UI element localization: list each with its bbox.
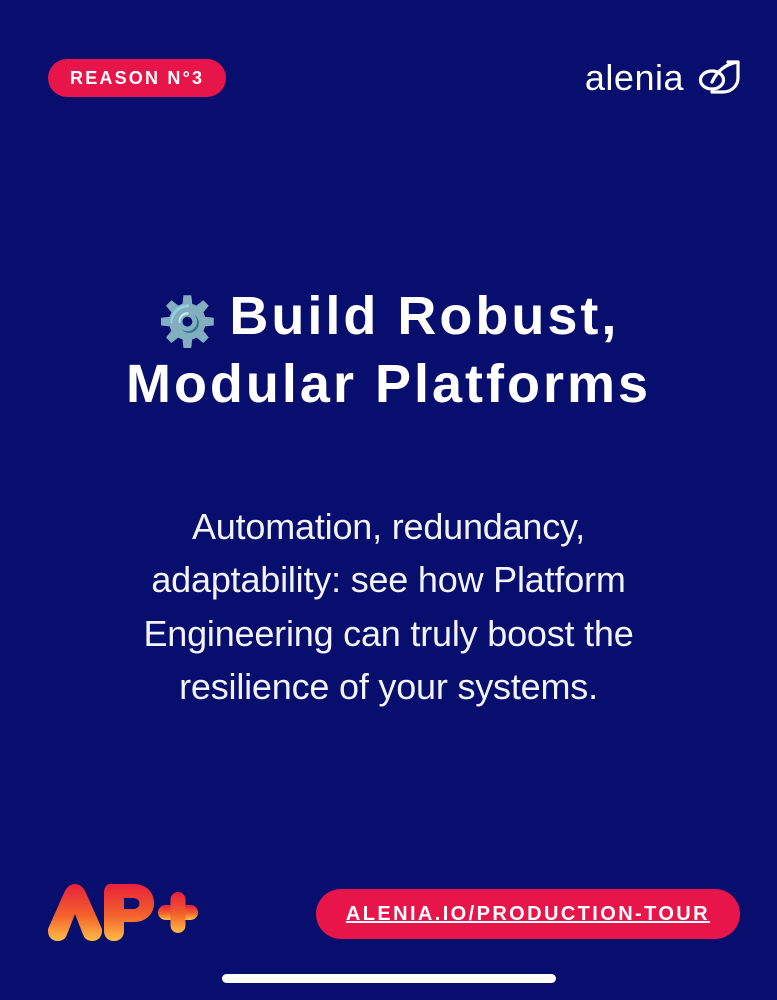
header-bar: REASON N°3 alenia [48, 58, 740, 98]
brand-lockup: alenia [585, 60, 740, 96]
footer-bar: ALENIA.IO/PRODUCTION-TOUR [48, 886, 740, 942]
cta-link-production-tour[interactable]: ALENIA.IO/PRODUCTION-TOUR [316, 889, 740, 939]
headline-line-1: Build Robust, [229, 286, 619, 346]
home-indicator-bar[interactable] [222, 974, 556, 983]
gear-icon: ⚙️ [158, 296, 218, 349]
page-title: ⚙️Build Robust, Modular Platforms [40, 284, 737, 416]
ap-plus-logo [48, 883, 198, 945]
alenia-leaf-loop-icon [698, 60, 740, 96]
slide-root: REASON N°3 alenia ⚙️Build Robust, Modula… [0, 0, 777, 1000]
body-paragraph: Automation, redundancy, adaptability: se… [100, 500, 677, 713]
reason-badge: REASON N°3 [48, 59, 226, 97]
headline-line-2: Modular Platforms [126, 354, 651, 414]
brand-wordmark: alenia [585, 60, 684, 96]
